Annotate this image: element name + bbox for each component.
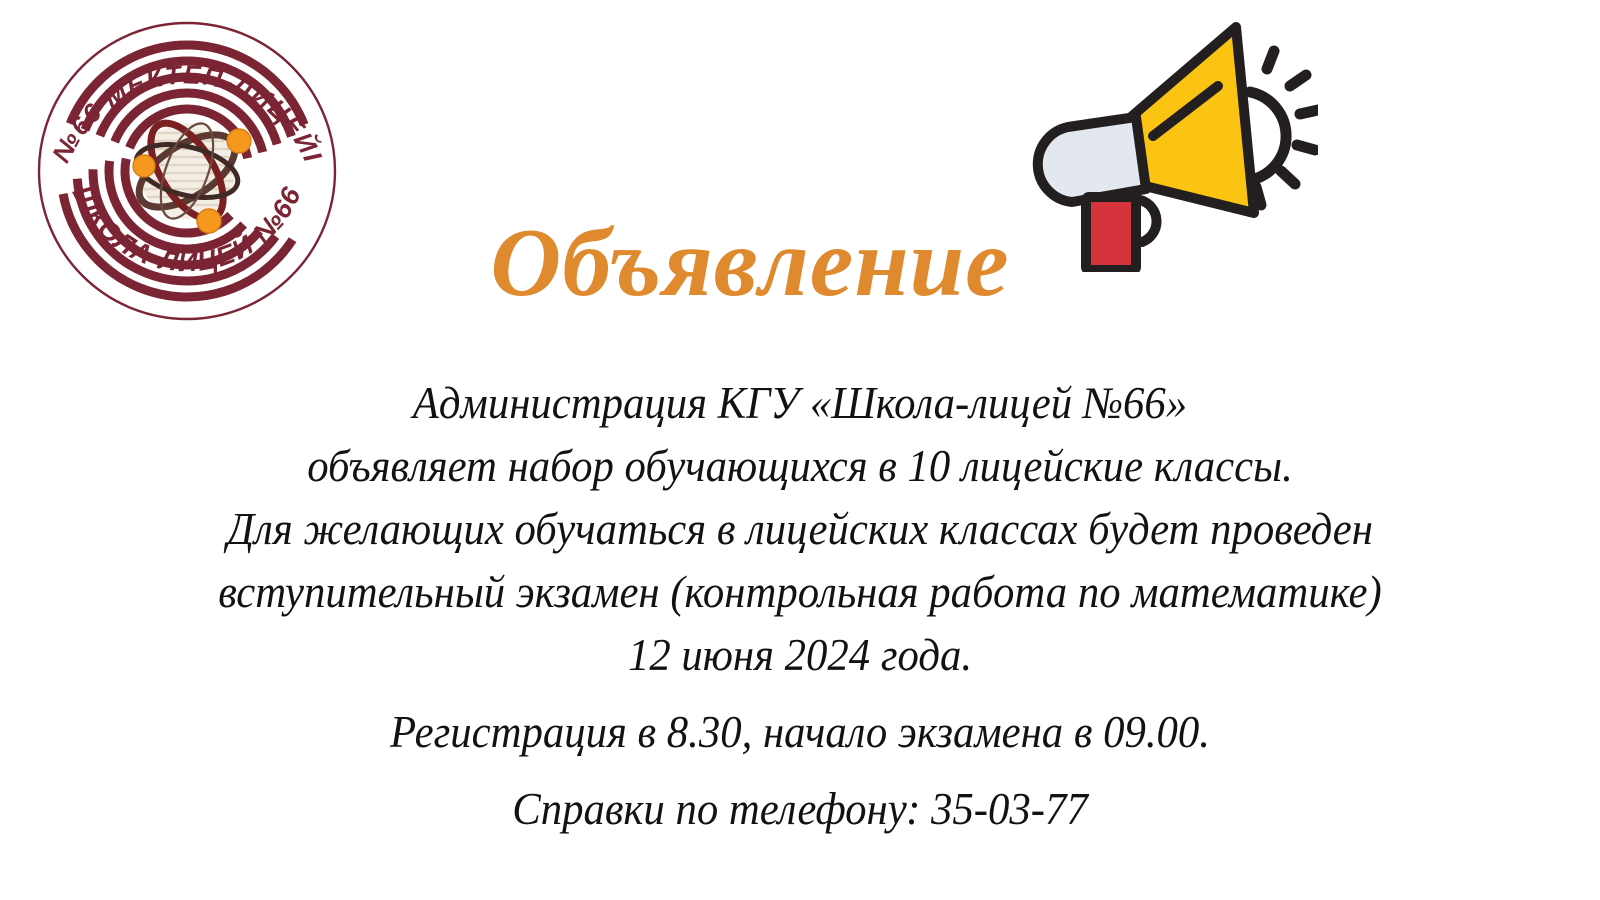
megaphone-body: [1038, 117, 1146, 202]
body-line-4: вступительный экзамен (контрольная работ…: [40, 561, 1560, 624]
body-line-7: Справки по телефону: 35-03-77: [40, 778, 1560, 841]
body-line-1: Администрация КГУ «Школа-лицей №66»: [40, 372, 1560, 435]
body-line-3: Для желающих обучаться в лицейских класс…: [40, 498, 1560, 561]
page-title: Объявление: [0, 214, 1500, 312]
body-line-6: Регистрация в 8.30, начало экзамена в 09…: [40, 701, 1560, 764]
announcement-body: Администрация КГУ «Школа-лицей №66» объя…: [40, 372, 1560, 841]
body-line-5: 12 июня 2024 года.: [40, 624, 1560, 687]
body-line-2: объявляет набор обучающихся в 10 лицейск…: [40, 435, 1560, 498]
announcement-poster: №66 МЕКТЕП-ЛИЦЕЙІ ШКОЛА-ЛИЦЕЙ №66: [0, 0, 1600, 900]
